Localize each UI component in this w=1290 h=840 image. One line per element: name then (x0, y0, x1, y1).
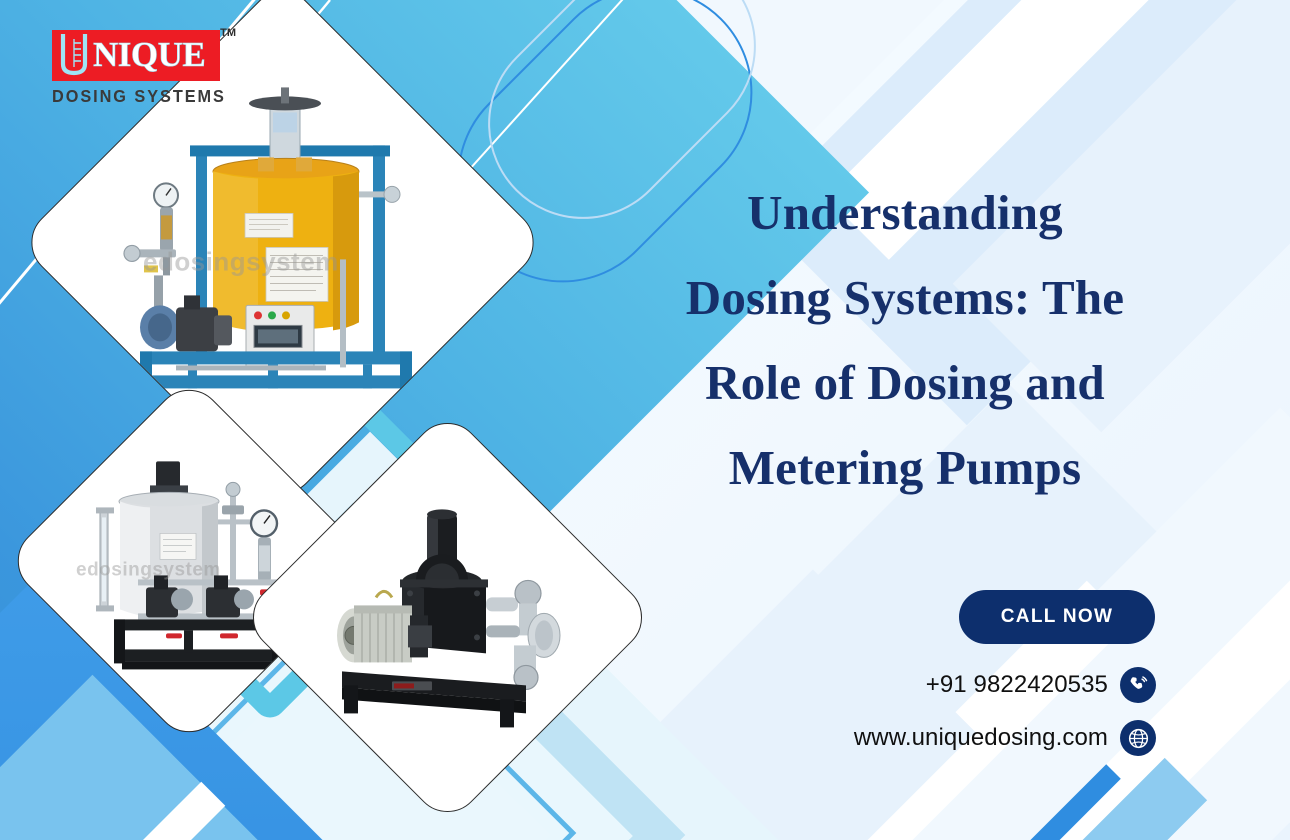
call-now-button[interactable]: CALL NOW (959, 590, 1155, 644)
metering-pump-photo (314, 485, 582, 753)
logo-tagline: DOSING SYSTEMS (52, 86, 229, 107)
logo-wordmark: NIQUE (93, 38, 205, 72)
page-title: Understanding Dosing Systems: The Role o… (600, 170, 1210, 510)
logo-box: NIQUE TM (52, 30, 220, 81)
dosing-system-tank-photo (117, 79, 447, 409)
brand-logo[interactable]: NIQUE TM DOSING SYSTEMS (52, 30, 242, 107)
website-url: www.uniquedosing.com (854, 724, 1108, 752)
contact-website-row[interactable]: www.uniquedosing.com (854, 720, 1156, 756)
globe-icon[interactable] (1120, 720, 1156, 756)
phone-ringing-icon[interactable] (1120, 667, 1156, 703)
headline-line-2: Dosing Systems: The (600, 255, 1210, 340)
headline-line-1: Understanding (600, 170, 1210, 255)
headline-line-3: Role of Dosing and (600, 340, 1210, 425)
marketing-banner: edosingsystem (0, 0, 1290, 840)
headline-line-4: Metering Pumps (600, 425, 1210, 510)
phone-number: +91 9822420535 (926, 671, 1108, 699)
trademark-symbol: TM (220, 27, 236, 39)
contact-phone-row[interactable]: +91 9822420535 (926, 667, 1156, 703)
beaker-icon (58, 34, 92, 76)
